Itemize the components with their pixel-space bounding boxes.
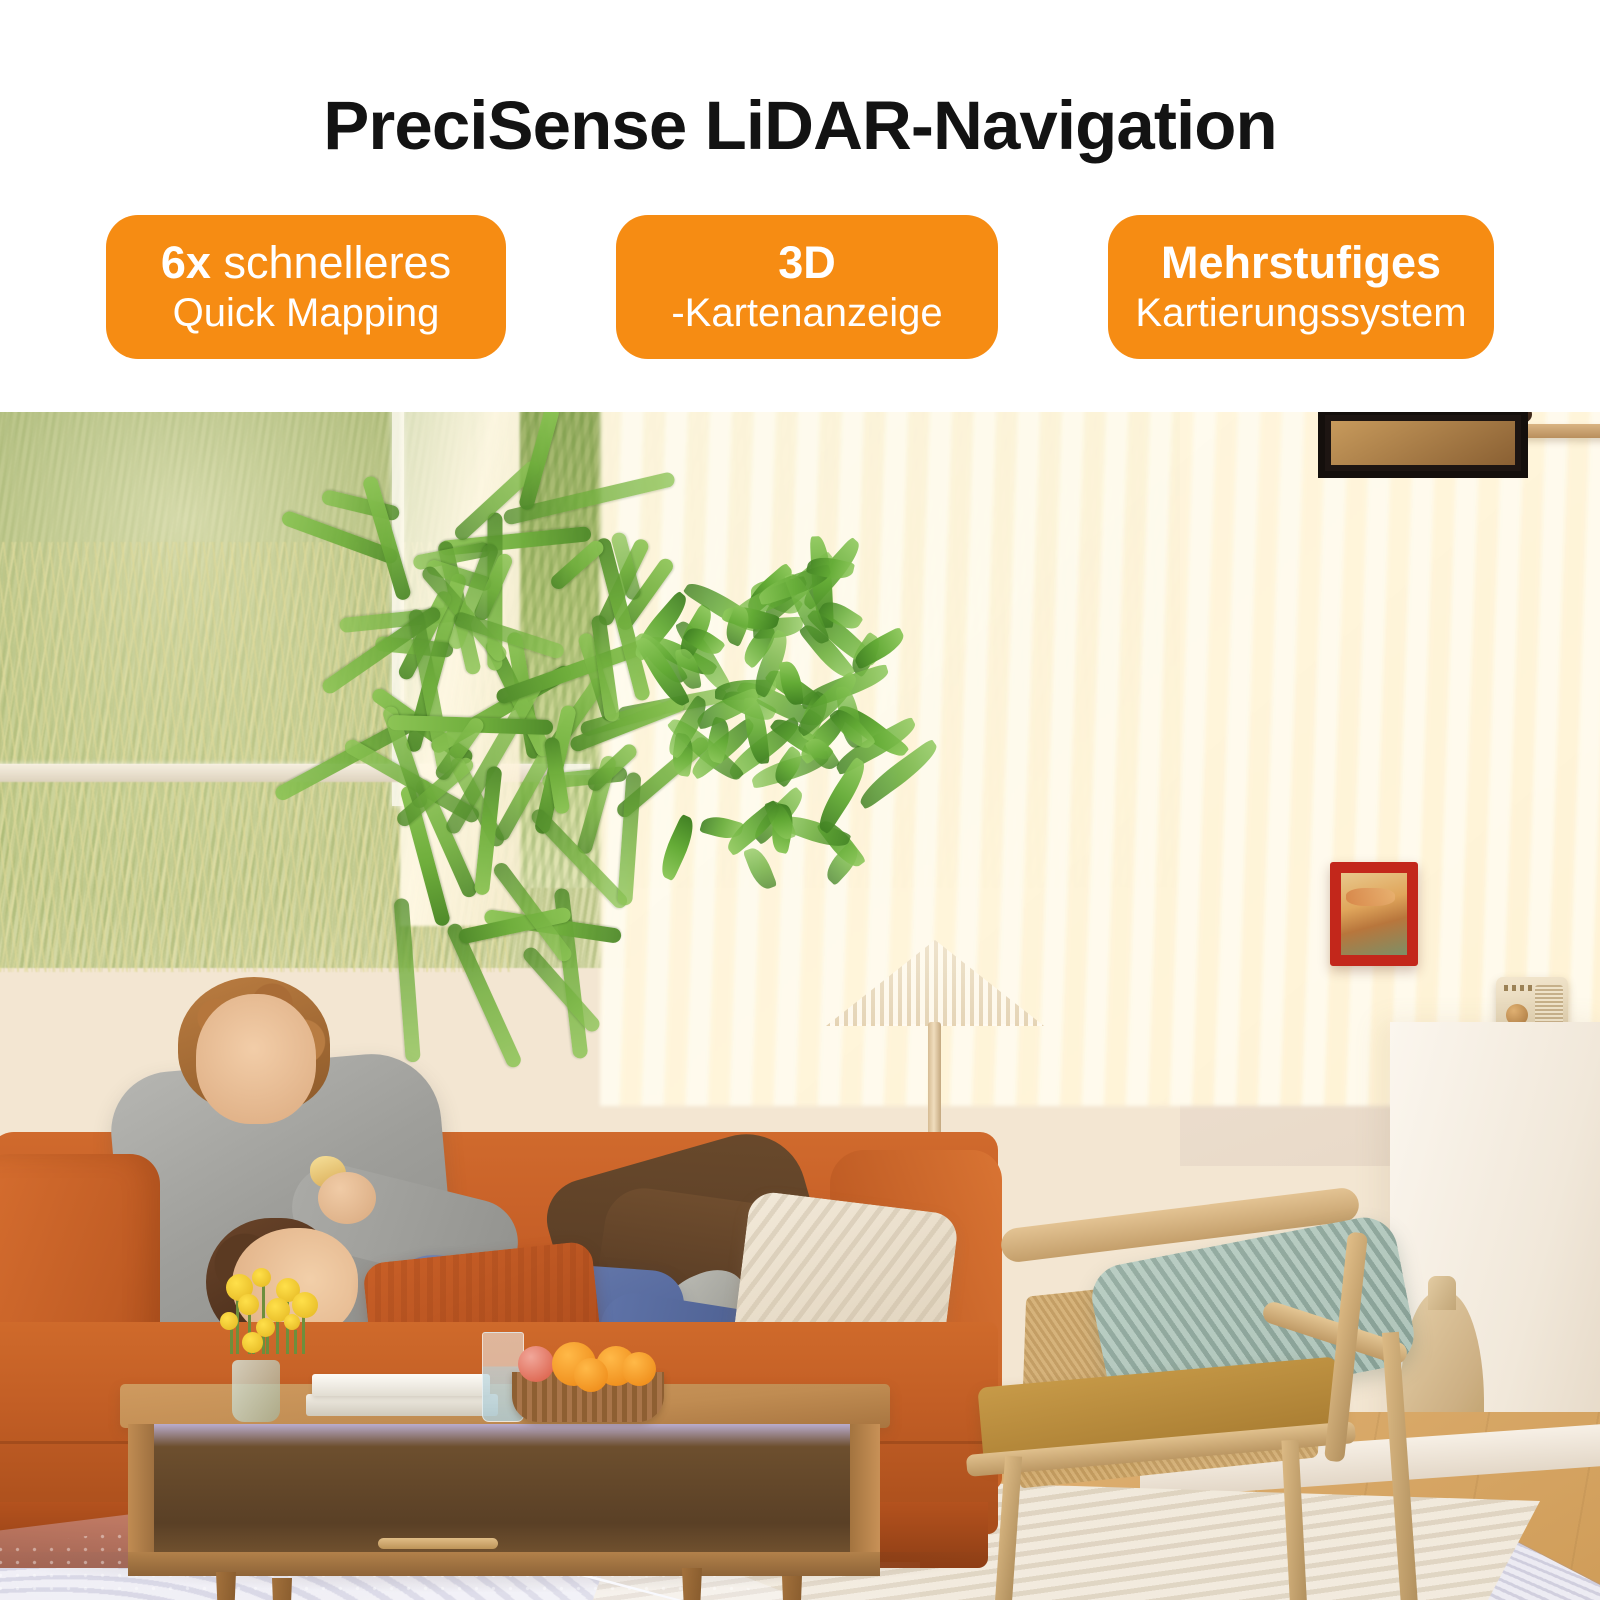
badge-headline-strong: Mehrstufiges	[1161, 237, 1441, 288]
glass-flower-vase	[232, 1360, 280, 1422]
flower-head	[238, 1294, 259, 1315]
man-hand	[318, 1172, 376, 1224]
flower-head	[220, 1312, 238, 1330]
coffee-table-leg	[782, 1576, 802, 1600]
feature-badge-3d-map-view[interactable]: 3D -Kartenanzeige	[616, 215, 998, 359]
badge-headline: Mehrstufiges	[1161, 236, 1441, 289]
coffee-table-skirt	[128, 1552, 880, 1576]
lifestyle-photo	[0, 412, 1600, 1600]
man-head	[196, 994, 316, 1124]
flower-stem	[294, 1330, 297, 1354]
foliage-frond	[548, 538, 606, 592]
badge-headline-strong: 6x	[161, 237, 211, 288]
red-framed-picture	[1330, 862, 1418, 966]
book-upper	[312, 1374, 490, 1396]
coffee-table-handle	[378, 1538, 498, 1549]
ficus-plant	[620, 502, 920, 922]
flower-head	[284, 1314, 300, 1330]
foliage-frond	[655, 814, 701, 882]
coffee-table-leg	[682, 1568, 702, 1600]
flower-stem	[266, 1334, 269, 1354]
radio-knobs	[1504, 985, 1534, 991]
badge-subline: -Kartenanzeige	[671, 289, 942, 337]
fruit-orange	[574, 1358, 608, 1392]
coffee-table-leg	[272, 1578, 292, 1600]
feature-badge-multi-level-mapping[interactable]: Mehrstufiges Kartierungssystem	[1108, 215, 1494, 359]
flower-head	[242, 1332, 263, 1353]
fruit-apple	[518, 1346, 554, 1382]
flower-stem	[230, 1328, 233, 1354]
badge-headline-rest: schnelleres	[211, 237, 451, 288]
dark-framed-picture	[1318, 412, 1528, 478]
fruit-orange	[622, 1352, 656, 1386]
foliage-frond	[528, 806, 630, 911]
radio-grille	[1535, 985, 1563, 1025]
fruit-basket	[512, 1372, 664, 1422]
badge-subline: Kartierungssystem	[1135, 289, 1466, 337]
badge-headline: 3D	[778, 236, 836, 289]
page-title: PreciSense LiDAR-Navigation	[0, 86, 1600, 165]
coffee-table-leg	[216, 1572, 236, 1600]
feature-badge-quick-mapping[interactable]: 6x schnelleres Quick Mapping	[106, 215, 506, 359]
badge-headline-strong: 3D	[778, 237, 836, 288]
product-feature-banner: PreciSense LiDAR-Navigation 6x schneller…	[0, 0, 1600, 1600]
feature-badge-row: 6x schnelleres Quick Mapping 3D -Kartena…	[0, 215, 1600, 360]
badge-subline: Quick Mapping	[173, 289, 440, 337]
foliage-frond	[743, 844, 778, 893]
badge-headline: 6x schnelleres	[161, 236, 451, 289]
foliage-frond	[361, 475, 412, 602]
header-section: PreciSense LiDAR-Navigation 6x schneller…	[0, 0, 1600, 412]
foliage-frond	[394, 898, 421, 1063]
coffee-table-shelf	[128, 1424, 880, 1566]
flower-head	[252, 1268, 271, 1287]
foliage-frond	[445, 922, 523, 1070]
book-lower	[306, 1394, 498, 1416]
